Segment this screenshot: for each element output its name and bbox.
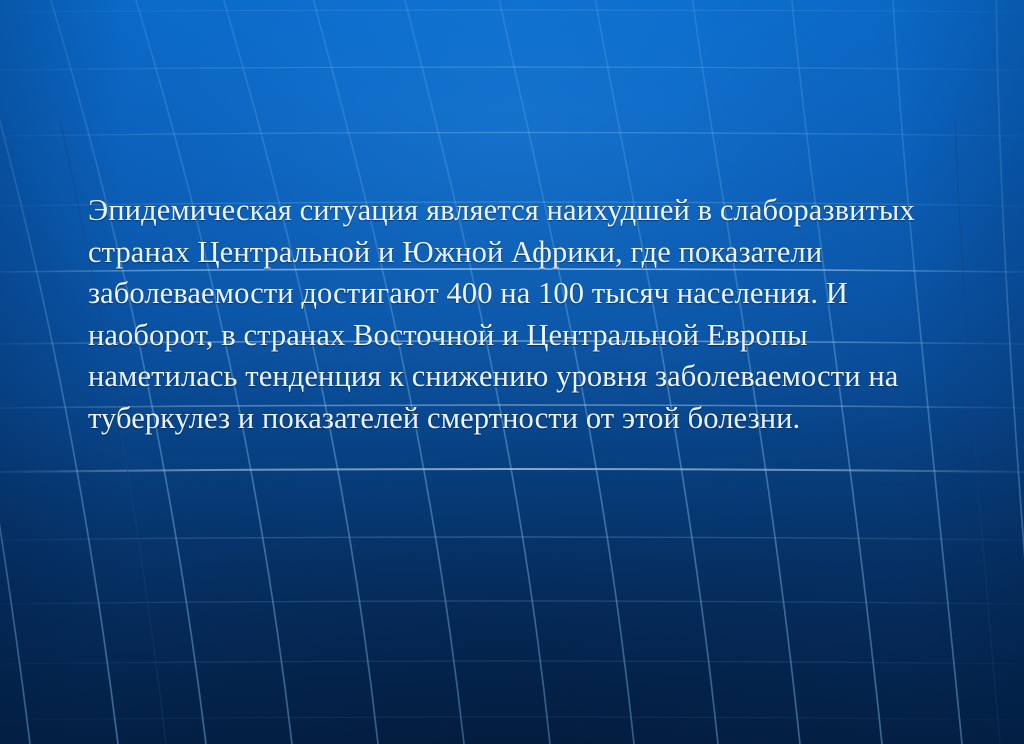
slide-body-text: Эпидемическая ситуация является наихудше…	[88, 190, 948, 439]
presentation-slide: Эпидемическая ситуация является наихудше…	[0, 0, 1024, 744]
